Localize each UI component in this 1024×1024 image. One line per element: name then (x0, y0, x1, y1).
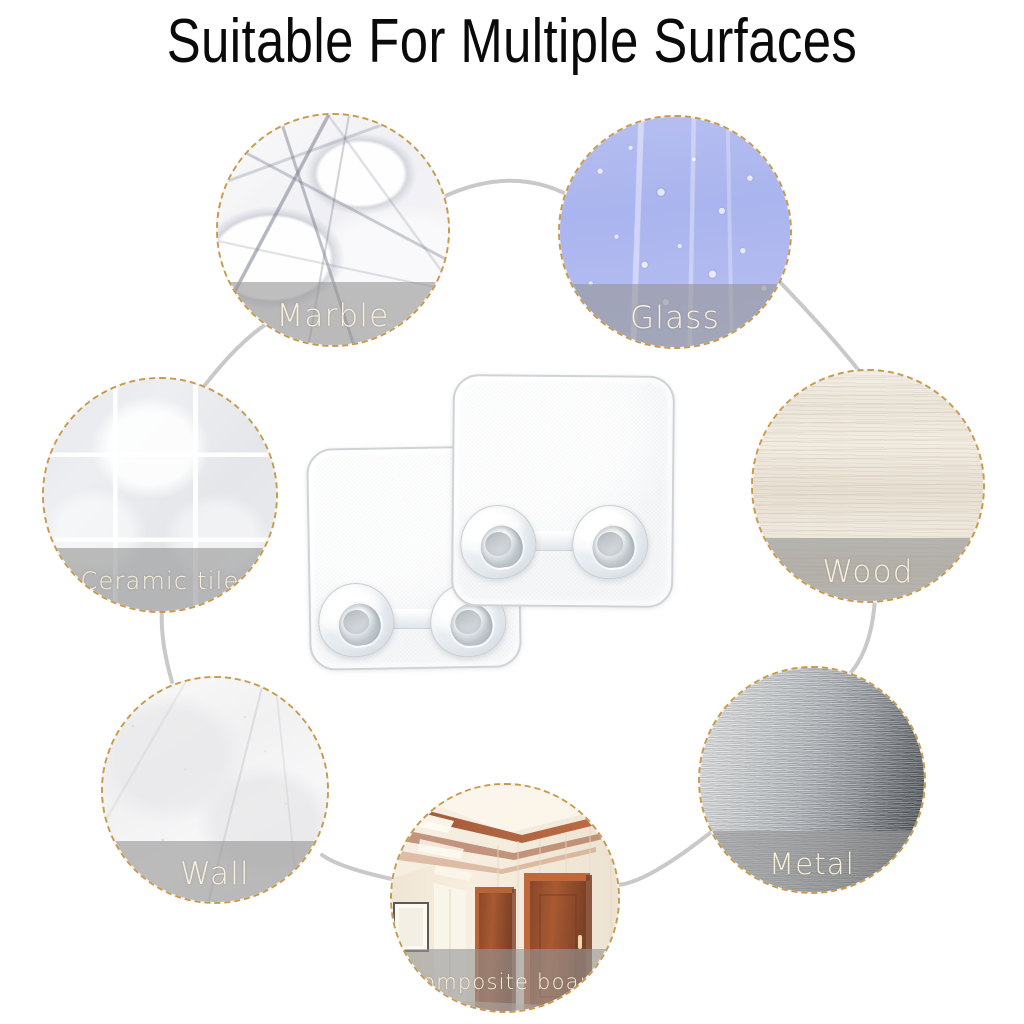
label-band-composite-board: Composite board (390, 949, 620, 1013)
label-band-metal: Metal (698, 831, 926, 894)
surface-circle-metal[interactable]: Metal (698, 666, 926, 894)
surface-label-wood: Wood (822, 554, 913, 590)
surface-circle-glass[interactable]: Glass (558, 115, 792, 349)
hook-knob-front-left (455, 500, 541, 584)
label-band-marble: Marble (216, 282, 450, 347)
label-band-ceramic-tile: Ceramic tile (42, 548, 278, 613)
infographic-canvas: Suitable For Multiple Surfaces Marble Gl… (0, 0, 1024, 1024)
surface-label-marble: Marble (276, 298, 389, 334)
surface-label-metal: Metal (769, 847, 855, 881)
page-title: Suitable For Multiple Surfaces (92, 6, 932, 78)
connector-composite-wall (322, 855, 396, 880)
connector-wood-metal (848, 598, 875, 676)
surface-label-composite-board: Composite board (406, 970, 603, 994)
label-band-glass: Glass (558, 284, 792, 349)
surface-circle-wall[interactable]: Wall (101, 676, 329, 904)
surface-circle-composite-board[interactable]: Composite board (390, 783, 620, 1013)
label-band-wall: Wall (101, 841, 329, 904)
surface-label-wall: Wall (180, 856, 250, 892)
surface-circle-marble[interactable]: Marble (216, 113, 450, 347)
surface-circle-wood[interactable]: Wood (751, 369, 985, 603)
product-image-adhesive-hooks (300, 355, 720, 715)
connector-wall-tile (162, 610, 172, 682)
connector-metal-composite (612, 833, 710, 885)
surface-label-ceramic-tile: Ceramic tile (81, 567, 240, 595)
label-band-wood: Wood (751, 538, 985, 603)
connector-glass-wood (779, 281, 862, 375)
hook-knob-front-right (569, 502, 651, 582)
connector-marble-glass (443, 181, 570, 197)
hook-knob-back-left (313, 578, 399, 662)
hook-knob-pair-front (460, 505, 648, 579)
surface-circle-ceramic-tile[interactable]: Ceramic tile (42, 377, 278, 613)
surface-label-glass: Glass (630, 300, 720, 336)
